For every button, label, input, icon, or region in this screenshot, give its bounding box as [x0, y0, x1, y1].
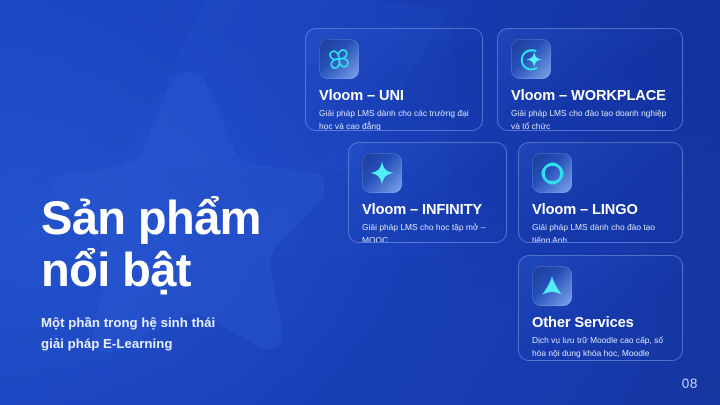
card-description: Giải pháp LMS dành cho đào tạo tiếng Anh	[532, 221, 669, 243]
card-description: Giải pháp LMS cho đào tạo doanh nghiệp v…	[511, 107, 669, 131]
product-card-lingo[interactable]: Vloom – LINGO Giải pháp LMS dành cho đào…	[518, 142, 683, 243]
product-card-workplace[interactable]: Vloom – WORKPLACE Giải pháp LMS cho đào …	[497, 28, 683, 131]
overlapping-petals-icon	[532, 153, 572, 193]
product-card-infinity[interactable]: Vloom – INFINITY Giải pháp LMS cho học t…	[348, 142, 507, 243]
card-description: Giải pháp LMS dành cho các trường đại họ…	[319, 107, 469, 131]
product-card-uni[interactable]: Vloom – UNI Giải pháp LMS dành cho các t…	[305, 28, 483, 131]
card-title: Vloom – WORKPLACE	[511, 88, 669, 104]
card-description: Dịch vụ lưu trữ Moodle cao cấp, số hóa n…	[532, 334, 669, 361]
page-title: Sản phẩm nổi bật	[41, 192, 331, 295]
card-title: Other Services	[532, 315, 669, 331]
pinwheel-swirl-icon	[319, 39, 359, 79]
four-point-sparkle-icon	[362, 153, 402, 193]
star-orbit-icon	[511, 39, 551, 79]
page-number: 08	[682, 376, 698, 391]
card-title: Vloom – UNI	[319, 88, 469, 104]
upward-arrow-icon	[532, 266, 572, 306]
heading-block: Sản phẩm nổi bật Một phần trong hệ sinh …	[41, 192, 331, 355]
page-subtitle: Một phần trong hệ sinh thái giải pháp E-…	[41, 313, 331, 355]
card-title: Vloom – LINGO	[532, 202, 669, 218]
card-title: Vloom – INFINITY	[362, 202, 493, 218]
product-card-other-services[interactable]: Other Services Dịch vụ lưu trữ Moodle ca…	[518, 255, 683, 361]
slide-canvas: Sản phẩm nổi bật Một phần trong hệ sinh …	[0, 0, 720, 405]
card-description: Giải pháp LMS cho học tập mở – MOOC	[362, 221, 493, 243]
